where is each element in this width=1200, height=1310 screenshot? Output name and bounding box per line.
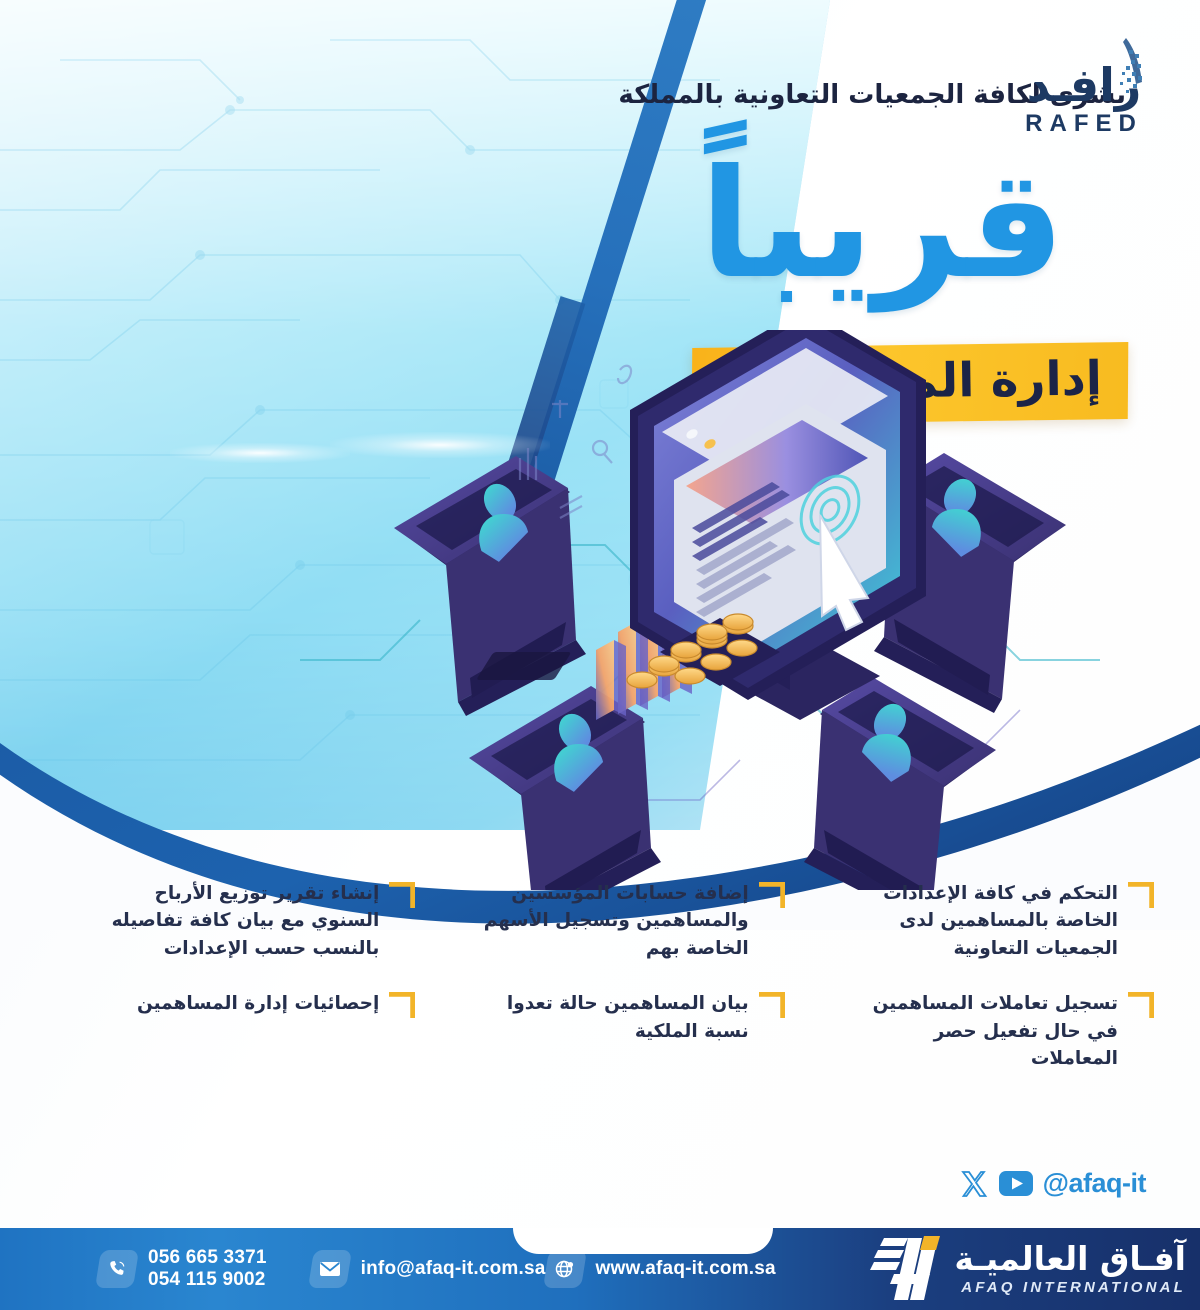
feature-item-ownership-limit: بيان المساهمين حالة تعدوا نسبة الملكية	[415, 990, 784, 1072]
feature-item-transactions-log: تسجيل تعاملات المساهمين في حال تفعيل حصر…	[785, 990, 1154, 1072]
corner-bracket-icon	[389, 992, 415, 1018]
feature-text: التحكم في كافة الإعدادات الخاصة بالمساهم…	[848, 880, 1118, 962]
phone-numbers: 056 665 3371 054 115 9002	[148, 1247, 267, 1291]
footer-bar: 056 665 3371 054 115 9002 info@afaq-it.c…	[0, 1228, 1200, 1310]
laptop-bottom-left	[469, 686, 661, 890]
youtube-icon[interactable]	[999, 1171, 1033, 1196]
feature-text: تسجيل تعاملات المساهمين في حال تفعيل حصر…	[848, 990, 1118, 1072]
feature-text: إحصائيات إدارة المساهمين	[137, 990, 379, 1017]
rafed-swoosh-icon	[1082, 36, 1152, 116]
phone-number-2: 054 115 9002	[148, 1269, 267, 1291]
feature-item-add-accounts: إضافة حسابات المؤسسين والمساهمين وتسجيل …	[415, 880, 784, 962]
afaq-brand-arabic: آفـاق العالميـة	[954, 1242, 1186, 1275]
phone-icon	[95, 1250, 139, 1288]
headline-coming-soon: قريباً	[700, 150, 1065, 300]
corner-bracket-icon	[1128, 882, 1154, 908]
rafed-logo: رافـد RAFED	[1000, 26, 1168, 144]
infographic-poster: بشرى لكافة الجمعيات التعاونية بالمملكة ر…	[0, 0, 1200, 1310]
phone-number-1: 056 665 3371	[148, 1247, 267, 1268]
website-url: www.afaq-it.com.sa	[596, 1258, 776, 1280]
envelope-icon	[308, 1250, 352, 1288]
afaq-brand-latin: AFAQ INTERNATIONAL	[954, 1279, 1186, 1296]
email-address: info@afaq-it.com.sa	[361, 1258, 546, 1280]
laptop-top-left	[394, 456, 586, 716]
corner-bracket-icon	[759, 882, 785, 908]
features-grid: التحكم في كافة الإعدادات الخاصة بالمساهم…	[0, 880, 1200, 1072]
feature-text: إنشاء تقرير توزيع الأرباح السنوي مع بيان…	[109, 880, 379, 962]
footer-website[interactable]: www.afaq-it.com.sa	[546, 1250, 776, 1288]
corner-bracket-icon	[1128, 992, 1154, 1018]
feature-item-statistics: إحصائيات إدارة المساهمين	[46, 990, 415, 1072]
feature-item-settings-control: التحكم في كافة الإعدادات الخاصة بالمساهم…	[785, 880, 1154, 962]
laptop-bottom-right	[804, 678, 996, 890]
feature-text: بيان المساهمين حالة تعدوا نسبة الملكية	[479, 990, 749, 1045]
footer-phone[interactable]: 056 665 3371 054 115 9002	[98, 1247, 267, 1291]
afaq-brand-logo: آفـاق العالميـة AFAQ INTERNATIONAL	[864, 1236, 1186, 1302]
feature-item-profit-report: إنشاء تقرير توزيع الأرباح السنوي مع بيان…	[46, 880, 415, 962]
afaq-mark-icon	[864, 1236, 944, 1302]
corner-bracket-icon	[759, 992, 785, 1018]
footer-email[interactable]: info@afaq-it.com.sa	[311, 1250, 546, 1288]
x-twitter-icon[interactable]	[959, 1169, 989, 1199]
social-handle[interactable]: @afaq-it	[1043, 1168, 1146, 1199]
corner-bracket-icon	[389, 882, 415, 908]
feature-text: إضافة حسابات المؤسسين والمساهمين وتسجيل …	[479, 880, 749, 962]
social-row: @afaq-it	[959, 1168, 1146, 1199]
isometric-illustration	[0, 330, 1200, 890]
globe-pin-icon	[543, 1250, 587, 1288]
